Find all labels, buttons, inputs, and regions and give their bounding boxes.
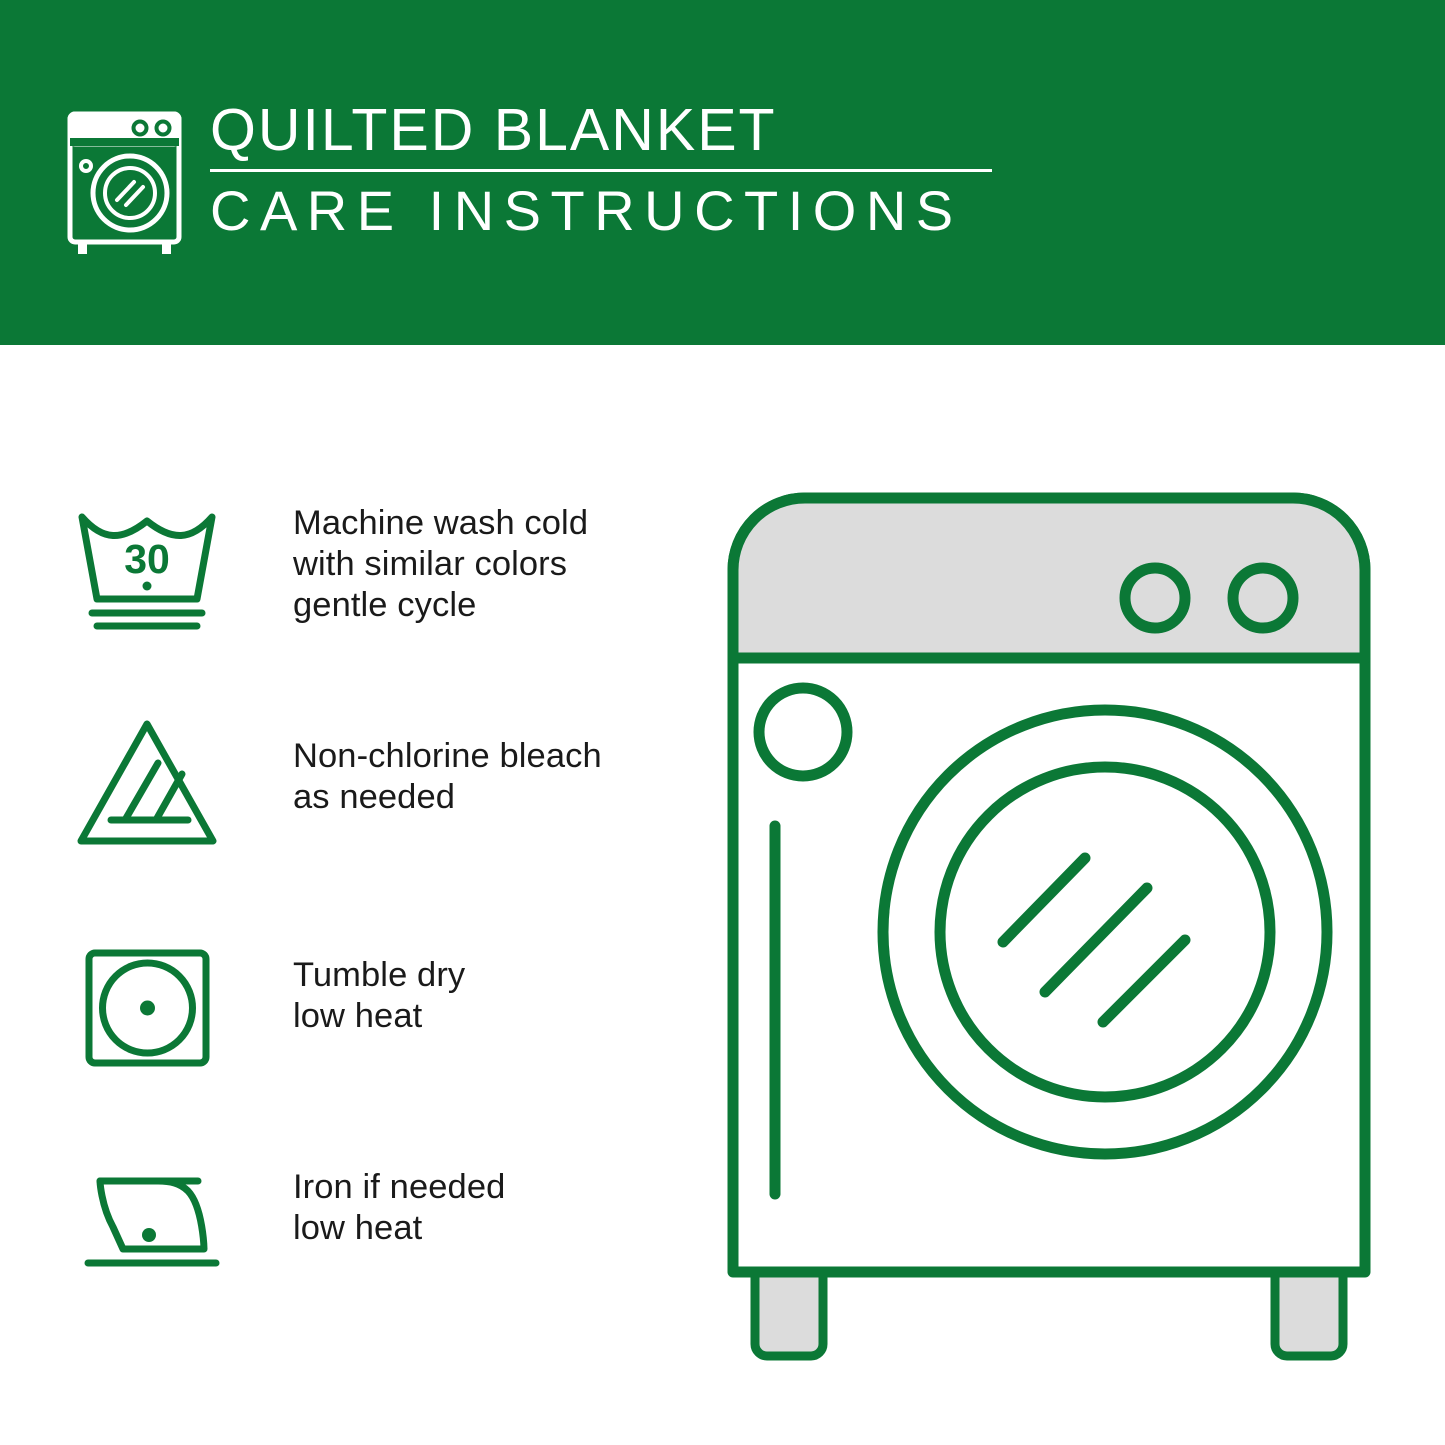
wash-temperature-label: 30 <box>124 536 170 582</box>
care-instruction-item: 30 Machine wash cold with similar colors… <box>70 495 690 650</box>
washer-knob-left <box>1125 568 1185 628</box>
care-instruction-list: 30 Machine wash cold with similar colors… <box>0 345 700 1445</box>
care-instruction-text: Machine wash cold with similar colors ge… <box>293 495 588 626</box>
care-instruction-item: Non-chlorine bleach as needed <box>70 708 690 863</box>
washing-machine-icon <box>62 108 187 258</box>
title-divider <box>210 169 992 172</box>
care-instruction-text: Non-chlorine bleach as needed <box>293 708 602 818</box>
care-instruction-text: Tumble dry low heat <box>293 933 465 1037</box>
non-chlorine-bleach-triangle-icon <box>70 708 225 863</box>
front-load-washing-machine-illustration <box>715 470 1415 1380</box>
header-content: QUILTED BLANKET CARE INSTRUCTIONS <box>62 98 1062 273</box>
washer-knob-right <box>1233 568 1293 628</box>
care-instruction-text: Iron if needed low heat <box>293 1145 505 1249</box>
care-instructions-infographic: QUILTED BLANKET CARE INSTRUCTIONS 30 <box>0 0 1445 1445</box>
washer-indicator-button <box>759 688 847 776</box>
care-instruction-item: Tumble dry low heat <box>70 933 690 1088</box>
tumble-dry-low-icon <box>70 933 225 1088</box>
page-title: QUILTED BLANKET <box>210 98 1050 162</box>
header-titles: QUILTED BLANKET CARE INSTRUCTIONS <box>210 98 1050 242</box>
care-instruction-item: Iron if needed low heat <box>70 1145 690 1300</box>
wash-tub-30-icon: 30 <box>70 495 225 650</box>
iron-low-heat-icon <box>70 1145 225 1300</box>
page-subtitle: CARE INSTRUCTIONS <box>210 180 1050 242</box>
header-band: QUILTED BLANKET CARE INSTRUCTIONS <box>0 0 1445 345</box>
